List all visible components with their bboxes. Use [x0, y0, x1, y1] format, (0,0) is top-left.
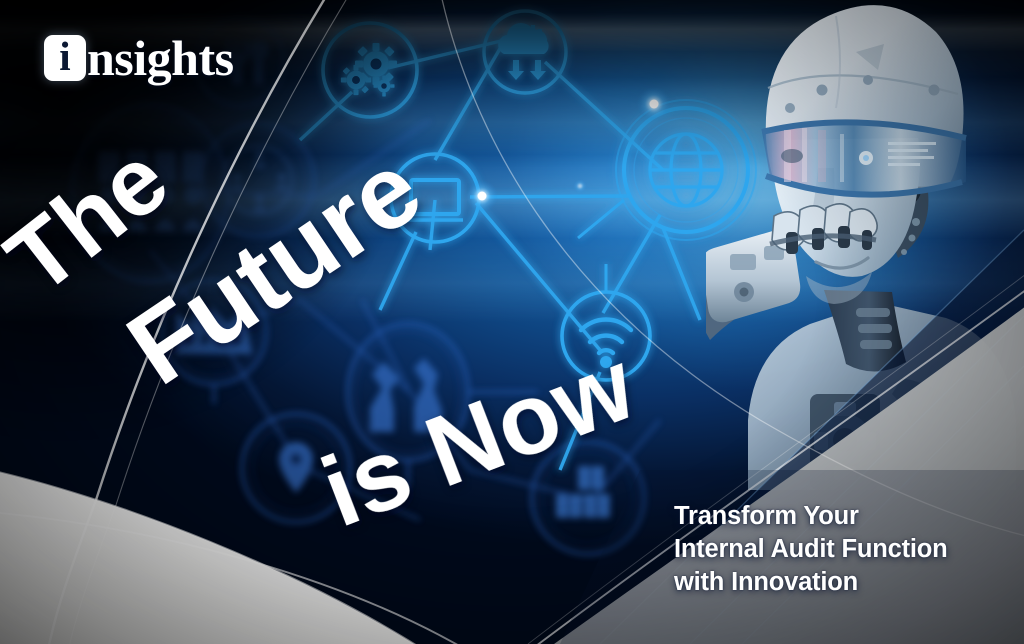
insights-banner: i nsights The Future is Now Transform Yo…: [0, 0, 1024, 644]
logo-i-badge: i: [44, 35, 86, 81]
subtitle-line-3: with Innovation: [674, 566, 948, 599]
subtitle-line-1: Transform Your: [674, 500, 948, 533]
logo-wordmark: nsights: [87, 33, 234, 83]
subtitle-block: Transform Your Internal Audit Function w…: [674, 500, 948, 599]
subtitle-line-2: Internal Audit Function: [674, 533, 948, 566]
insights-logo[interactable]: i nsights: [44, 33, 234, 83]
